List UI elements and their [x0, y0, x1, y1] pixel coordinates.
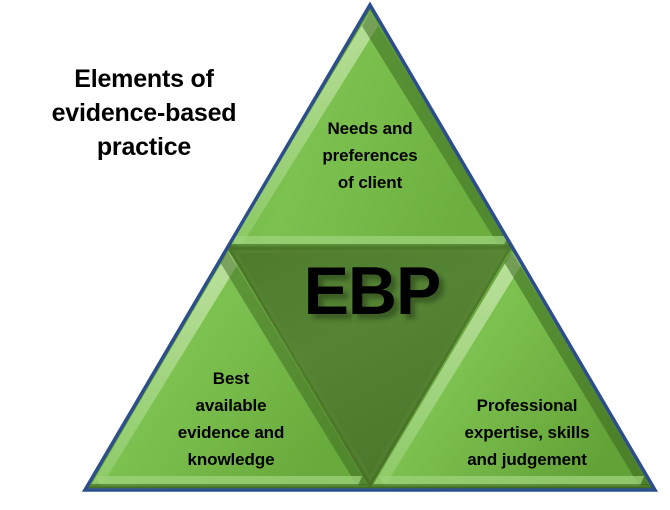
segment-top-line-3: of client	[288, 169, 452, 196]
segment-right-line-1: Professional	[434, 392, 620, 419]
segment-label-top: Needs and preferences of client	[288, 115, 452, 196]
center-label-ebp: EBP	[272, 252, 472, 330]
title-line-3: practice	[14, 130, 274, 164]
title-line-1: Elements of	[14, 62, 274, 96]
segment-top-line-2: preferences	[288, 142, 452, 169]
segment-left-line-2: available	[145, 392, 317, 419]
segment-label-bottom-left: Best available evidence and knowledge	[145, 365, 317, 473]
segment-left-line-4: knowledge	[145, 446, 317, 473]
page-title: Elements of evidence-based practice	[14, 62, 274, 164]
segment-right-line-2: expertise, skills	[434, 419, 620, 446]
title-line-2: evidence-based	[14, 96, 274, 130]
segment-label-bottom-right: Professional expertise, skills and judge…	[434, 392, 620, 473]
diagram-canvas: Elements of evidence-based practice Need…	[0, 0, 670, 510]
segment-left-line-1: Best	[145, 365, 317, 392]
segment-top-line-1: Needs and	[288, 115, 452, 142]
segment-right-line-3: and judgement	[434, 446, 620, 473]
segment-left-line-3: evidence and	[145, 419, 317, 446]
